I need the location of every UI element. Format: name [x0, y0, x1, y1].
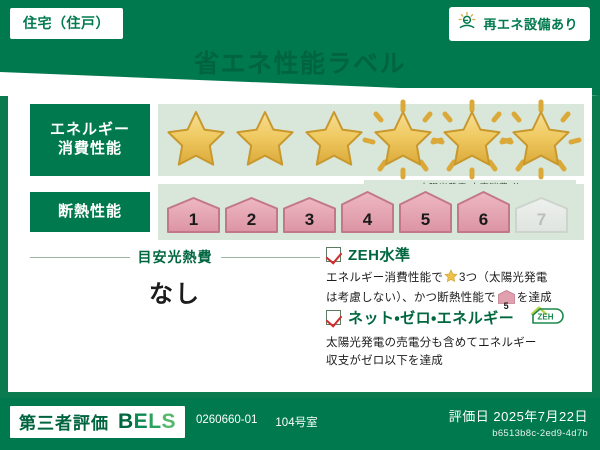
- criterion-zeh-standard: ZEH水準 エネルギー消費性能で3つ（太陽光発電 は考慮しない）、かつ断熱性能で…: [326, 244, 588, 311]
- evaluation-date-label: 評価日: [449, 409, 490, 424]
- rule-left: [30, 257, 130, 258]
- insulation-row-label: 断熱性能: [30, 192, 150, 232]
- nze-desc-part2: 収支がゼロ以下を達成: [326, 355, 443, 367]
- main-panel: エネルギー 消費性能 太陽光発電(自家消費)分: [8, 88, 592, 392]
- insulation-level-4: 4: [340, 190, 395, 234]
- star-1: [164, 108, 228, 172]
- insulation-level-1: 1: [166, 196, 221, 234]
- zeh-house-logo-icon: ZEH: [525, 304, 567, 331]
- title-main: 省エネ性能ラベル: [0, 52, 600, 77]
- bels-logo: BELS: [118, 411, 176, 432]
- insulation-level-3: 3: [282, 196, 337, 234]
- utility-cost-label: 目安光熱費: [138, 247, 213, 267]
- insulation-level-value: 6: [456, 210, 511, 230]
- insulation-level-value: 7: [514, 210, 569, 230]
- insulation-level-value: 2: [224, 210, 279, 230]
- room-number: 104号室: [275, 414, 317, 430]
- inline-star-icon: [444, 269, 458, 290]
- energy-row-label: エネルギー 消費性能: [30, 104, 150, 176]
- star-2: [233, 108, 297, 172]
- zeh-desc-part2: 3つ（太陽光発電: [459, 272, 548, 284]
- insulation-row-label-text: 断熱性能: [58, 203, 122, 222]
- criterion-net-zero-energy: ネット・ゼロ・エネルギー ZEH 太陽光発電の売電分も含めてエネルギー 収支がゼ…: [326, 304, 588, 371]
- insulation-level-5: 5: [398, 190, 453, 234]
- insulation-level-value: 4: [340, 210, 395, 230]
- energy-performance-label: 住宅（住戸） 再エネ設備あり 建築物省エネ法に基づく 省エネ性能ラベル: [0, 0, 600, 450]
- star-6-solar: [509, 108, 573, 172]
- energy-row-label-line2: 消費性能: [58, 140, 122, 159]
- label-title: 建築物省エネ法に基づく 省エネ性能ラベル: [0, 32, 600, 77]
- utility-cost-value: なし: [30, 274, 320, 309]
- title-subtitle: 建築物省エネ法に基づく: [0, 32, 600, 45]
- document-hash: b6513b8c-2ed9-4d7b: [449, 428, 588, 439]
- evaluation-date-value: 2025年7月22日: [493, 409, 588, 424]
- checkbox-checked-icon: [326, 247, 341, 262]
- insulation-level-2: 2: [224, 196, 279, 234]
- footer-certificate-info: 0260660-01 104号室: [196, 414, 318, 430]
- rule-right: [221, 257, 321, 258]
- star-5-solar: [440, 108, 504, 172]
- insulation-level-value: 5: [398, 210, 453, 230]
- nze-desc-part1: 太陽光発電の売電分も含めてエネルギー: [326, 337, 537, 349]
- footer-date-block: 評価日 2025年7月22日 b6513b8c-2ed9-4d7b: [449, 406, 588, 439]
- bels-plaque: 第三者評価 BELS: [10, 406, 185, 438]
- criterion-zeh-header: ZEH水準: [326, 244, 588, 265]
- checkbox-checked-icon: [326, 310, 341, 325]
- footer-bar: 第三者評価 BELS 0260660-01 104号室 評価日 2025年7月2…: [0, 398, 600, 450]
- third-party-evaluation-label: 第三者評価: [19, 409, 109, 434]
- renewable-badge-label: 再エネ設備あり: [483, 14, 578, 33]
- criterion-nze-description: 太陽光発電の売電分も含めてエネルギー 収支がゼロ以下を達成: [326, 335, 588, 371]
- energy-star-rating: [164, 106, 584, 174]
- zeh-desc-part1: エネルギー消費性能で: [326, 272, 443, 284]
- zeh-desc-part4: を達成: [517, 292, 552, 304]
- insulation-level-value: 1: [166, 210, 221, 230]
- criterion-nze-title: ネット・ゼロ・エネルギー: [348, 307, 514, 328]
- svg-text:ZEH: ZEH: [538, 313, 554, 322]
- insulation-level-6: 6: [456, 190, 511, 234]
- utility-cost-heading: 目安光熱費: [30, 248, 320, 266]
- evaluation-date: 評価日 2025年7月22日: [449, 406, 588, 425]
- certificate-number: 0260660-01: [196, 414, 257, 430]
- zeh-desc-part3: は考慮しない）、かつ断熱性能で: [326, 292, 496, 304]
- energy-row-label-line1: エネルギー: [50, 121, 130, 140]
- criterion-zeh-title: ZEH水準: [348, 244, 411, 265]
- insulation-level-scale: 1 2: [166, 188, 578, 236]
- insulation-level-value: 3: [282, 210, 337, 230]
- insulation-level-7: 7: [514, 196, 569, 234]
- star-3: [302, 108, 366, 172]
- star-4-solar: [371, 108, 435, 172]
- criterion-nze-header: ネット・ゼロ・エネルギー ZEH: [326, 304, 588, 331]
